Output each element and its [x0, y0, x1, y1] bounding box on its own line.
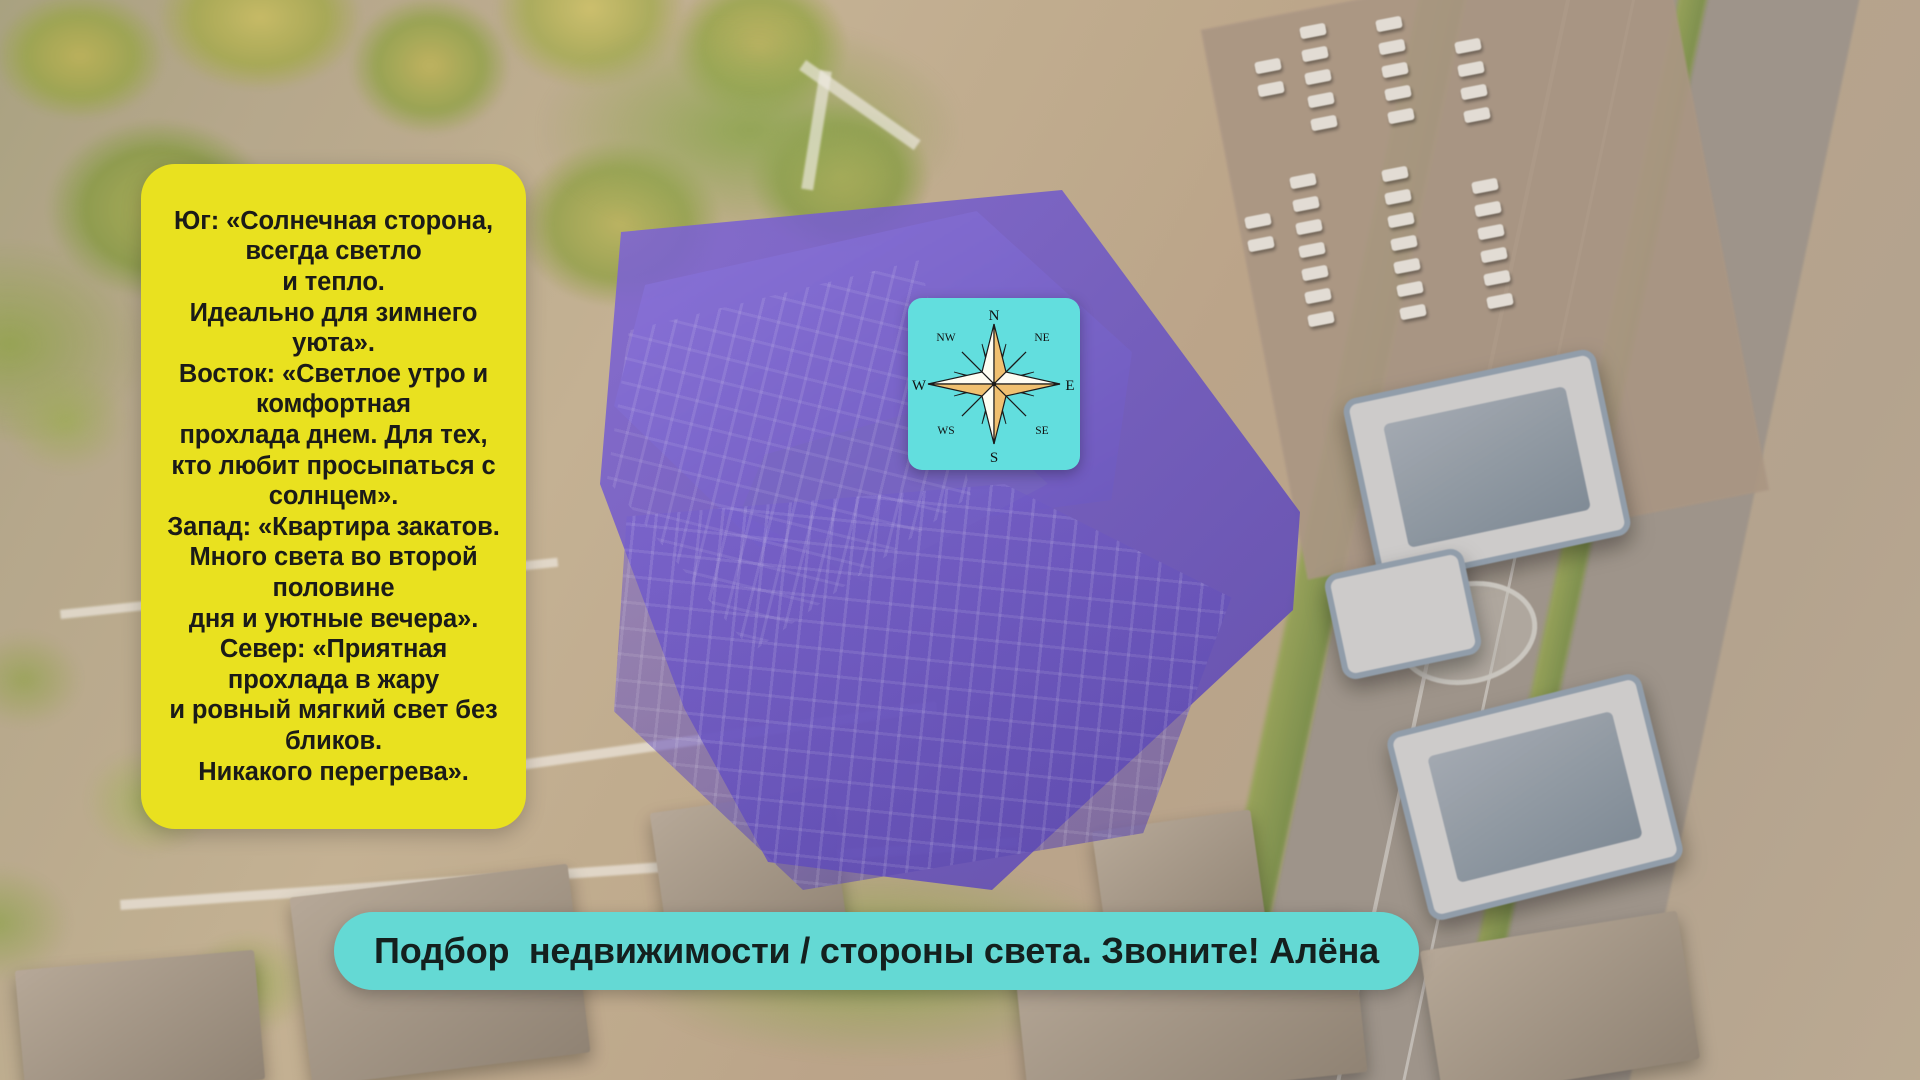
neighbor-building-north-core — [1383, 386, 1591, 548]
compass-label-s: S — [990, 450, 998, 466]
compass-label-nw: NW — [936, 332, 955, 344]
compass-label-se: SE — [1035, 425, 1048, 437]
compass-label-w: W — [912, 378, 927, 394]
compass-label-e: E — [1065, 378, 1074, 394]
city-block-2 — [15, 950, 265, 1080]
orientation-info-text: Юг: «Солнечная сторона, всегда светло и … — [141, 206, 526, 787]
neighbor-building-south-core — [1427, 711, 1643, 883]
orientation-info-panel: Юг: «Солнечная сторона, всегда светло и … — [141, 164, 526, 829]
call-to-action-banner[interactable]: Подбор недвижимости / стороны света. Зво… — [334, 912, 1419, 990]
compass-label-n: N — [989, 308, 1000, 324]
compass-label-ws: WS — [937, 425, 954, 437]
promo-image-canvas: N S E W NE NW SE WS Юг: «Солнечная сторо… — [0, 0, 1920, 1080]
highlighted-building-overlay — [600, 190, 1300, 890]
call-to-action-text: Подбор недвижимости / стороны света. Зво… — [374, 930, 1379, 972]
compass-label-ne: NE — [1034, 332, 1049, 344]
compass-rose-card: N S E W NE NW SE WS — [908, 298, 1080, 470]
compass-rose-icon: N S E W NE NW SE WS — [908, 298, 1080, 470]
